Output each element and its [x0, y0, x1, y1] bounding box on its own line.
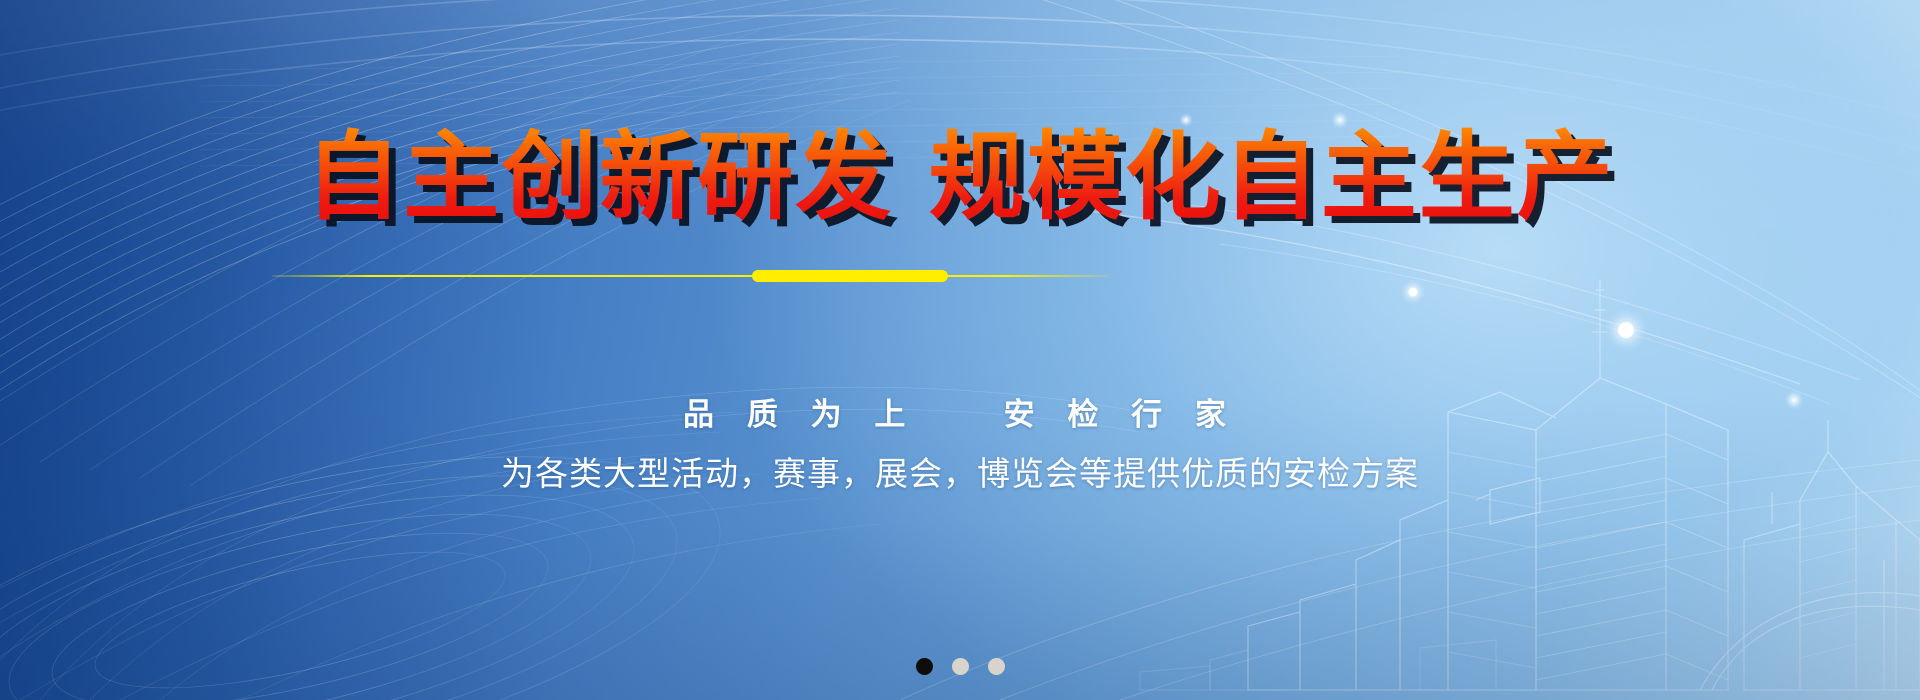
- carousel-indicators[interactable]: [0, 658, 1920, 675]
- headline-container: 自主创新研发 规模化自主生产: [0, 62, 1920, 294]
- page-title: 自主创新研发 规模化自主生产: [305, 126, 1614, 230]
- carousel-dot-2[interactable]: [952, 658, 969, 675]
- divider-thin-rule: [272, 275, 1108, 277]
- carousel-dot-3[interactable]: [988, 658, 1005, 675]
- carousel-dot-1[interactable]: [916, 658, 933, 675]
- subtitle-primary: 品 质 为 上 安 检 行 家: [0, 389, 1920, 434]
- hero-banner-slide[interactable]: 自主创新研发 规模化自主生产 品 质 为 上 安 检 行 家 为各类大型活动，赛…: [0, 0, 1920, 700]
- subtitle-secondary: 为各类大型活动，赛事，展会，博览会等提供优质的安检方案: [0, 447, 1920, 495]
- divider: [0, 268, 1920, 284]
- bottom-shade-gradient: [0, 400, 1920, 700]
- divider-thick-rule: [752, 270, 948, 282]
